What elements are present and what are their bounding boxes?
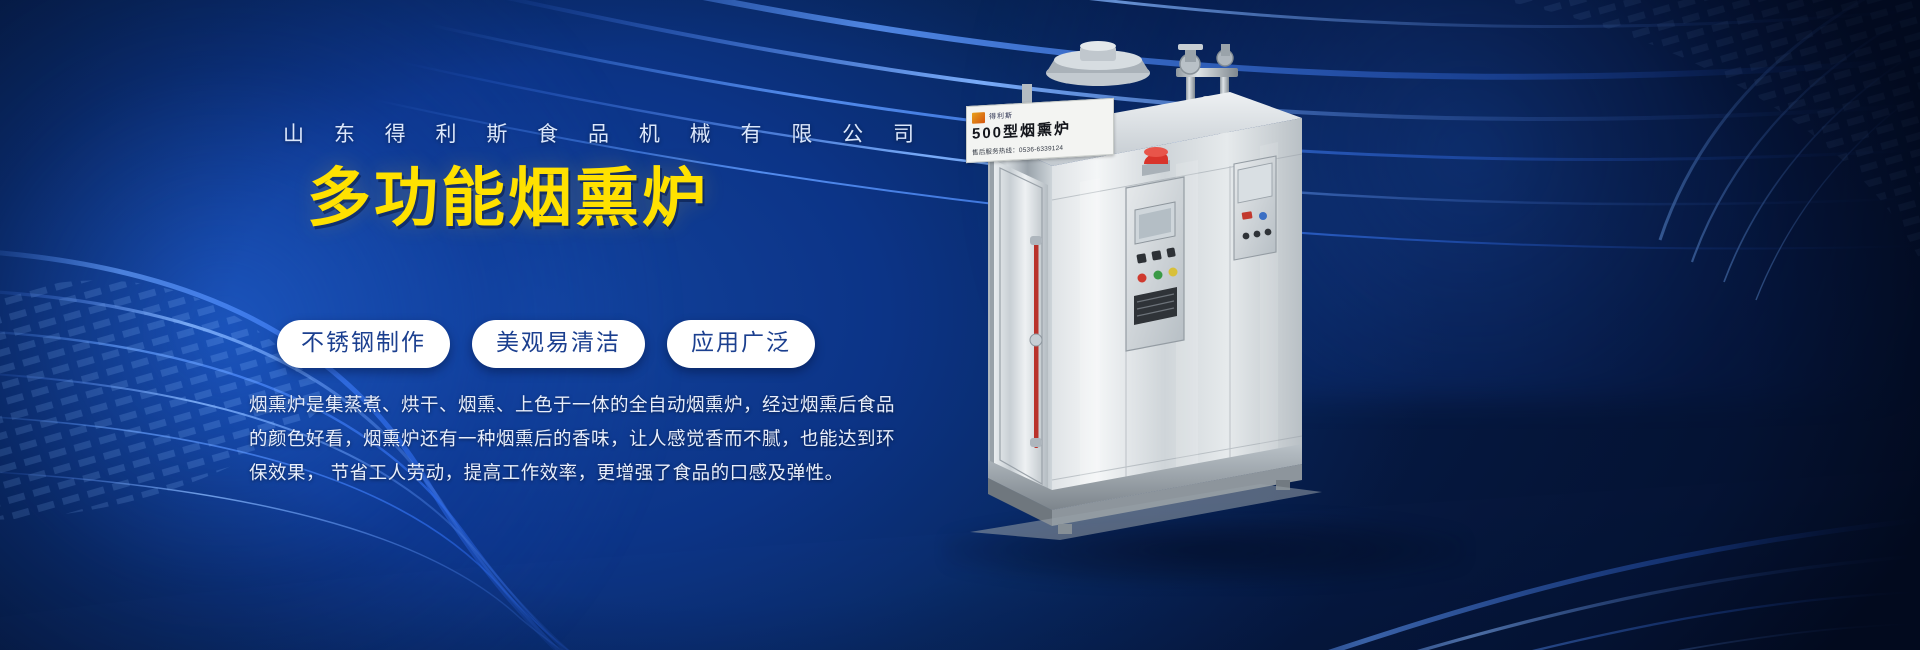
description-paragraph: 烟熏炉是集蒸煮、烘干、烟熏、上色于一体的全自动烟熏炉，经过烟熏后食品 的颜色好看… [249,388,815,491]
machine-label-brand-text: 得利斯 [989,112,1013,120]
description-line-3: 保效果， 节省工人劳动，提高工作效率，更增强了食品的口感及弹性。 [249,456,815,490]
description-line-2: 的颜色好看，烟熏炉还有一种烟熏后的香味，让人感觉香而不腻，也能达到环 [249,422,815,456]
feature-pill-list: 不锈钢制作 美观易清洁 应用广泛 [277,320,815,368]
hero-banner: 得利斯 500型烟熏炉 售后服务热线：0536-6339124 山 东 得 利 … [0,0,1920,650]
feature-pill-stainless[interactable]: 不锈钢制作 [277,320,450,368]
banner-content: 山 东 得 利 斯 食 品 机 械 有 限 公 司 多功能烟熏炉 不锈钢制作 美… [0,0,860,650]
company-name: 山 东 得 利 斯 食 品 机 械 有 限 公 司 [283,118,926,148]
machine-model-label: 得利斯 500型烟熏炉 售后服务热线：0536-6339124 [966,98,1114,163]
feature-pill-wide-use[interactable]: 应用广泛 [667,320,815,368]
smoke-oven-illustration: 得利斯 500型烟熏炉 售后服务热线：0536-6339124 [930,40,1490,560]
feature-pill-easy-clean[interactable]: 美观易清洁 [472,320,645,368]
page-title: 多功能烟熏炉 [307,164,709,233]
description-line-1: 烟熏炉是集蒸煮、烘干、烟熏、上色于一体的全自动烟熏炉，经过烟熏后食品 [249,388,815,422]
brand-logo-icon [972,112,985,124]
